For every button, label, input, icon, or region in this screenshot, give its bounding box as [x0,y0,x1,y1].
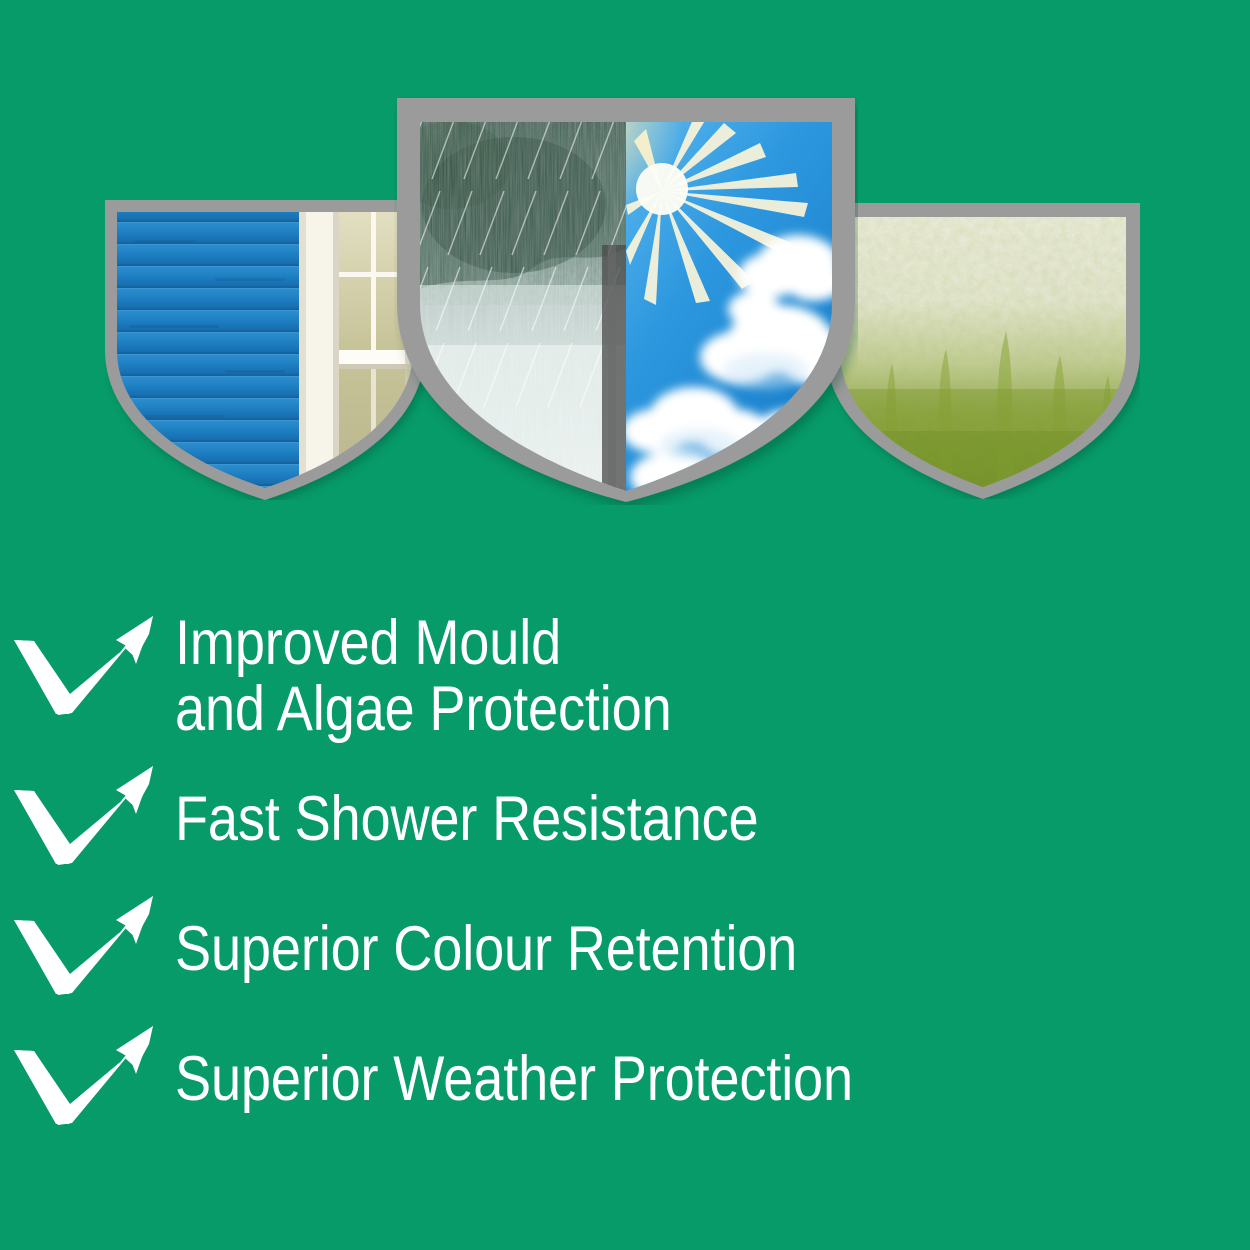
shield-algae-growth-icon [826,203,1140,499]
shield-rain-and-sun-icon [394,95,858,505]
benefit-item: Superior Weather Protection [0,1020,1250,1138]
benefit-item: Fast Shower Resistance [0,760,1250,878]
benefit-label: Superior Colour Retention [175,916,797,982]
benefit-item: Improved Mould and Algae Protection [0,610,1250,742]
benefit-label: Improved Mould and Algae Protection [175,610,672,742]
benefit-label: Fast Shower Resistance [175,786,758,852]
benefit-item: Superior Colour Retention [0,890,1250,1008]
three-protection-shields [0,0,1250,560]
check-arrow-icon [0,890,175,1008]
check-arrow-icon [0,760,175,878]
check-arrow-icon [0,610,175,728]
shield-painted-masonry-icon [105,200,425,500]
benefit-label: Superior Weather Protection [175,1046,853,1112]
poster-canvas: Improved Mould and Algae Protection Fast… [0,0,1250,1250]
check-arrow-icon [0,1020,175,1138]
